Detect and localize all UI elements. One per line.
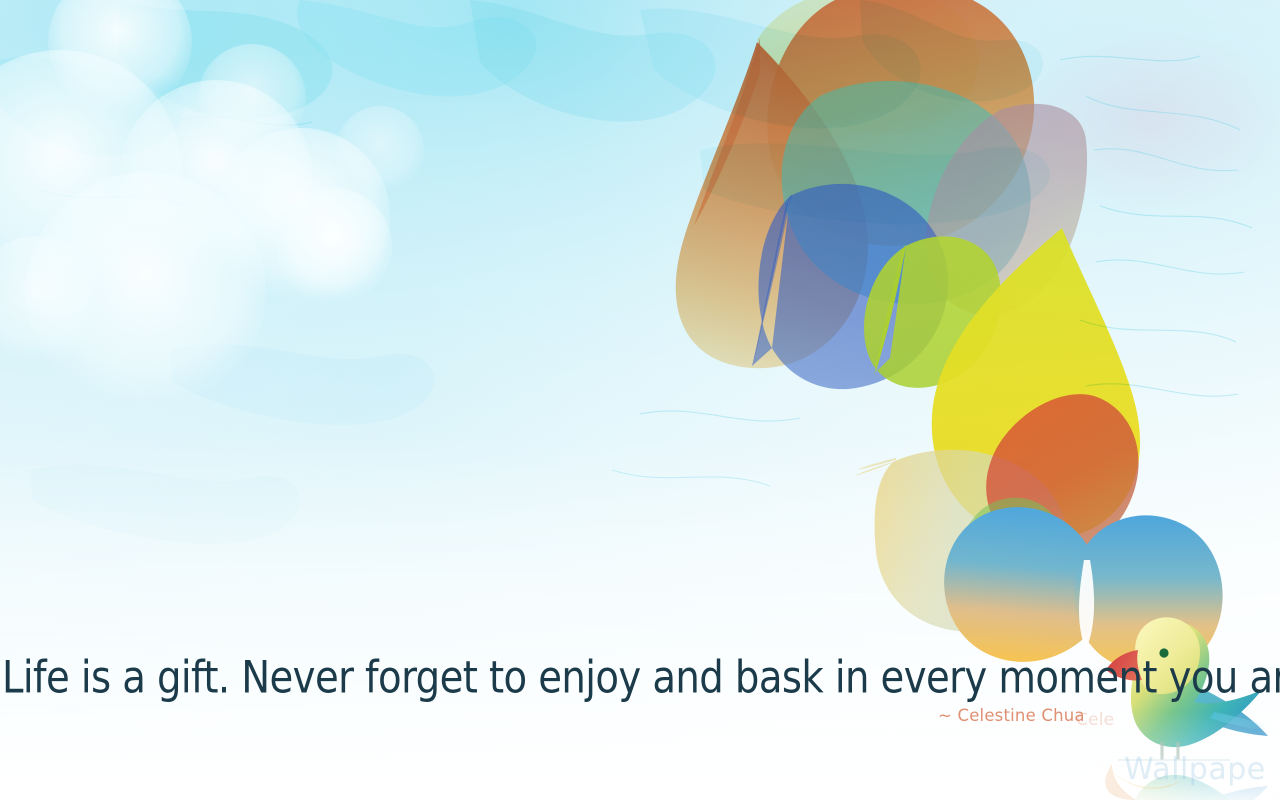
petal-artwork: [0, 0, 1280, 800]
bird-eye: [1159, 648, 1168, 657]
wallpaper-canvas: Life is a gift. Never forget to enjoy an…: [0, 0, 1280, 800]
